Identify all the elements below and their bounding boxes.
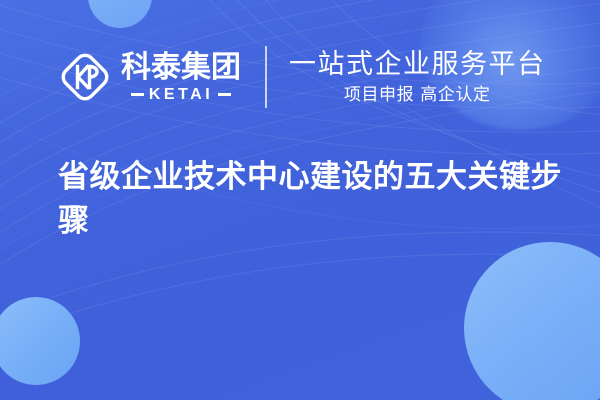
circle-bottom-left-decoration	[0, 297, 80, 385]
wordmark-dash-left-icon	[131, 93, 144, 96]
page-title: 省级企业技术中心建设的五大关键步骤	[58, 155, 568, 243]
tagline-sub: 项目申报 高企认定	[289, 84, 546, 106]
header-vertical-divider	[265, 46, 267, 108]
tagline-main: 一站式企业服务平台	[289, 49, 546, 80]
tagline-block: 一站式企业服务平台 项目申报 高企认定	[289, 49, 546, 106]
circle-top-decoration	[88, 0, 152, 28]
promo-banner: 科泰集团 KETAI 一站式企业服务平台 项目申报 高企认定 省级企业技术中心建…	[0, 0, 600, 400]
brand-logo[interactable]: 科泰集团 KETAI	[58, 50, 241, 104]
brand-name-en: KETAI	[144, 86, 218, 103]
banner-header-row: 科泰集团 KETAI 一站式企业服务平台 项目申报 高企认定	[0, 36, 600, 118]
brand-name-cn: 科泰集团	[121, 52, 241, 84]
ketai-diamond-kd-logo-icon	[58, 50, 112, 104]
circle-bottom-right-decoration	[464, 242, 600, 400]
brand-name-en-row: KETAI	[121, 86, 241, 103]
wordmark-dash-right-icon	[218, 93, 231, 96]
brand-wordmark: 科泰集团 KETAI	[121, 52, 241, 103]
